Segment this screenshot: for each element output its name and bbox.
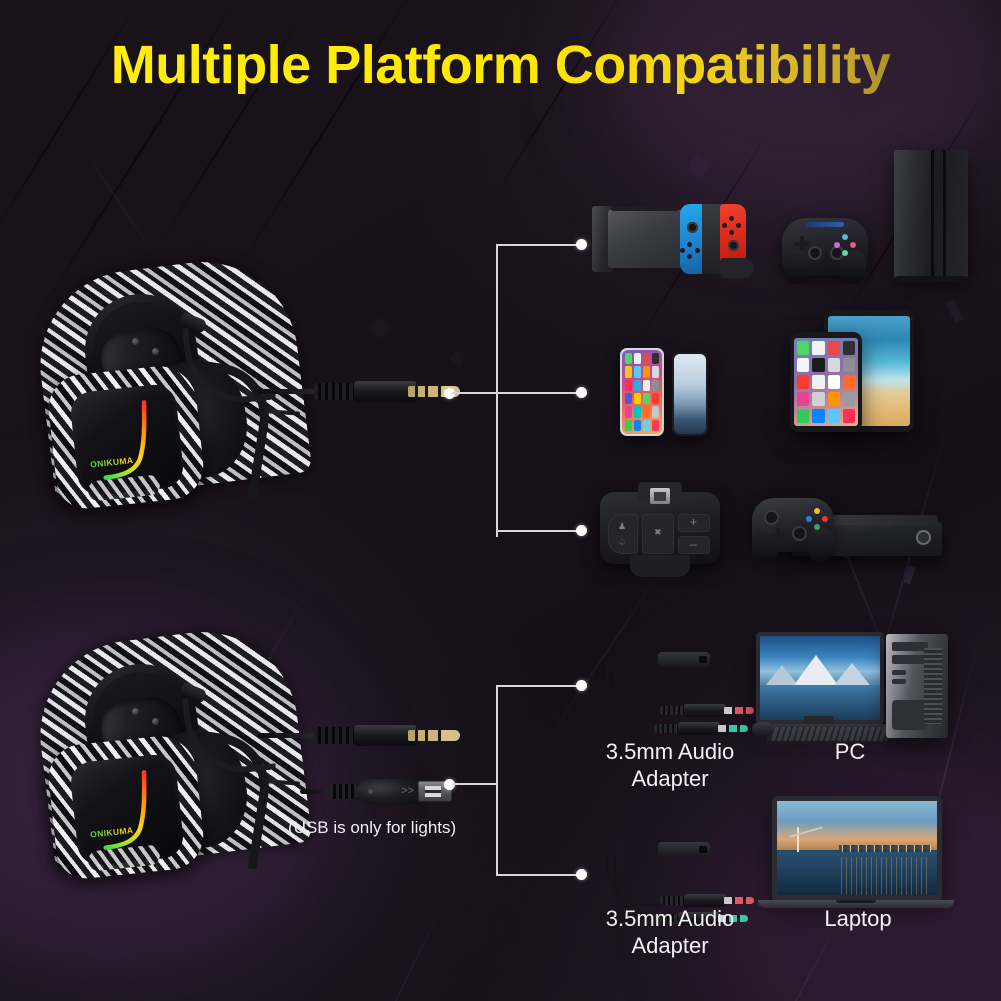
- connector-line: [496, 530, 582, 532]
- connector-node-laptop: [576, 869, 587, 880]
- rgb-light-strip: [94, 769, 164, 853]
- rgb-light-strip: [94, 399, 164, 483]
- chat-icon: ♤: [618, 538, 626, 547]
- volume-up-icon: +: [690, 518, 697, 527]
- label-adapter-laptop: 3.5mm Audio Adapter: [570, 905, 770, 959]
- slider-screw: [152, 348, 159, 355]
- device-xbox-one-x: [752, 492, 948, 572]
- audio-plug-top: [258, 378, 448, 404]
- audio-adapter-splitter-pc: [598, 650, 778, 740]
- audio-plug-bottom: [258, 722, 448, 748]
- connector-node-pc: [576, 680, 587, 691]
- device-desktop-pc: [756, 628, 956, 748]
- infographic-page: Multiple Platform Compatibility: [0, 0, 1001, 1001]
- label-pc: PC: [770, 738, 930, 765]
- headset-product-bottom: ONIKUMA: [28, 632, 288, 877]
- connector-line: [452, 783, 498, 785]
- connector-bracket-bottom: [496, 686, 498, 876]
- xbox-logo-icon: [916, 530, 931, 545]
- connector-line: [452, 392, 498, 394]
- connector-line: [496, 874, 582, 876]
- headset-product-top: ONIKUMA: [28, 262, 288, 507]
- connector-line: [496, 244, 582, 246]
- slider-screw: [152, 718, 159, 725]
- slider-screw: [132, 708, 139, 715]
- connector-bracket-top: [496, 245, 498, 537]
- device-smartphones: [620, 348, 716, 440]
- label-adapter-pc: 3.5mm Audio Adapter: [570, 738, 770, 792]
- connector-node-mobile: [576, 387, 587, 398]
- volume-down-icon: –: [690, 540, 697, 549]
- usb-port-icon: [650, 488, 670, 504]
- device-galaxy-phone: [672, 352, 708, 436]
- device-ps4-console: [782, 150, 968, 282]
- device-iphone: [620, 348, 664, 436]
- device-xbox-headset-adapter: ♟ ♤ ✖ + –: [600, 492, 730, 572]
- device-nintendo-switch: [592, 200, 758, 282]
- page-title: Multiple Platform Compatibility: [0, 34, 1001, 96]
- headset-icon: ♟: [618, 522, 626, 531]
- connector-line: [496, 392, 582, 394]
- connector-node-consoles: [576, 239, 587, 250]
- device-ipad-mini: [790, 332, 862, 432]
- label-laptop: Laptop: [778, 905, 938, 932]
- mute-icon: ✖: [654, 528, 662, 537]
- slider-screw: [132, 338, 139, 345]
- device-laptop: [758, 796, 958, 916]
- usb-connector: >>: [300, 778, 460, 804]
- device-tablets: [790, 310, 915, 440]
- usb-note: (USB is only for lights): [288, 818, 456, 838]
- connector-line: [496, 685, 582, 687]
- connector-node-xbox: [576, 525, 587, 536]
